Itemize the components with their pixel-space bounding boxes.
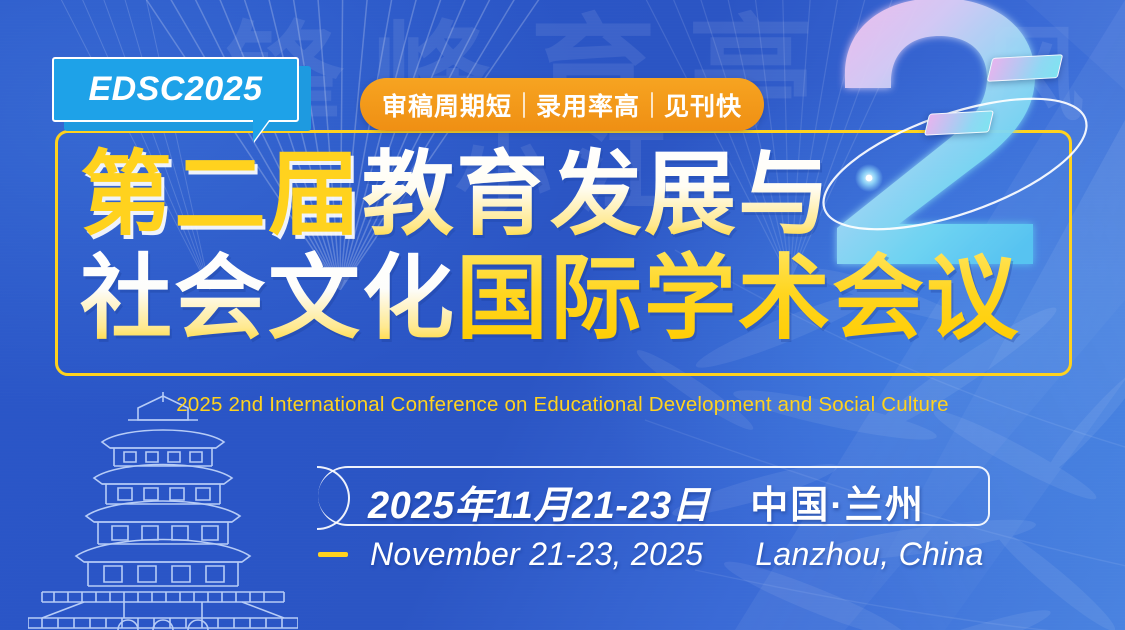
- tag-label: EDSC2025: [88, 70, 262, 109]
- badge-item-3: 见刊快: [664, 87, 742, 123]
- title-line-2: 社会文化国际学术会议: [80, 247, 1060, 351]
- location-english: Lanzhou, China: [755, 536, 983, 573]
- badge-separator-2: [651, 92, 653, 118]
- date-location-english: November 21-23, 2025 Lanzhou, China: [318, 536, 984, 573]
- badge-item-1: 审稿周期短: [382, 87, 512, 123]
- gradient-chip-lower: [924, 110, 994, 135]
- highlights-badge: 审稿周期短 录用率高 见刊快: [360, 78, 764, 131]
- page-title: 第二届教育发展与 社会文化国际学术会议: [80, 143, 1060, 351]
- date-chinese: 2025年11月21-23日: [368, 474, 710, 529]
- conference-banner: 锋 峰 育 亭 风 小 江: [0, 0, 1125, 630]
- pagoda-illustration-icon: [28, 386, 298, 630]
- conference-code-tag[interactable]: EDSC2025: [52, 57, 299, 122]
- dash-marker-icon: [318, 552, 348, 557]
- location-chinese: 中国·兰州: [750, 474, 925, 529]
- badge-item-2: 录用率高: [536, 87, 640, 123]
- subtitle-english: 2025 2nd International Conference on Edu…: [0, 393, 1125, 417]
- badge-separator-1: [523, 92, 525, 118]
- title-line-2-part-2: 国际学术会议: [456, 248, 1020, 350]
- tag-body: EDSC2025: [52, 57, 299, 122]
- date-location-chinese: 2025年11月21-23日 中国·兰州: [368, 474, 925, 529]
- title-line-1: 第二届教育发展与: [80, 143, 1060, 247]
- title-line-1-part-2: 教育发展与: [362, 144, 832, 246]
- date-english: November 21-23, 2025: [370, 536, 703, 573]
- gradient-chip-upper: [987, 54, 1064, 82]
- title-line-2-part-1: 社会文化: [80, 248, 456, 350]
- title-line-1-part-1: 第二届: [80, 144, 362, 246]
